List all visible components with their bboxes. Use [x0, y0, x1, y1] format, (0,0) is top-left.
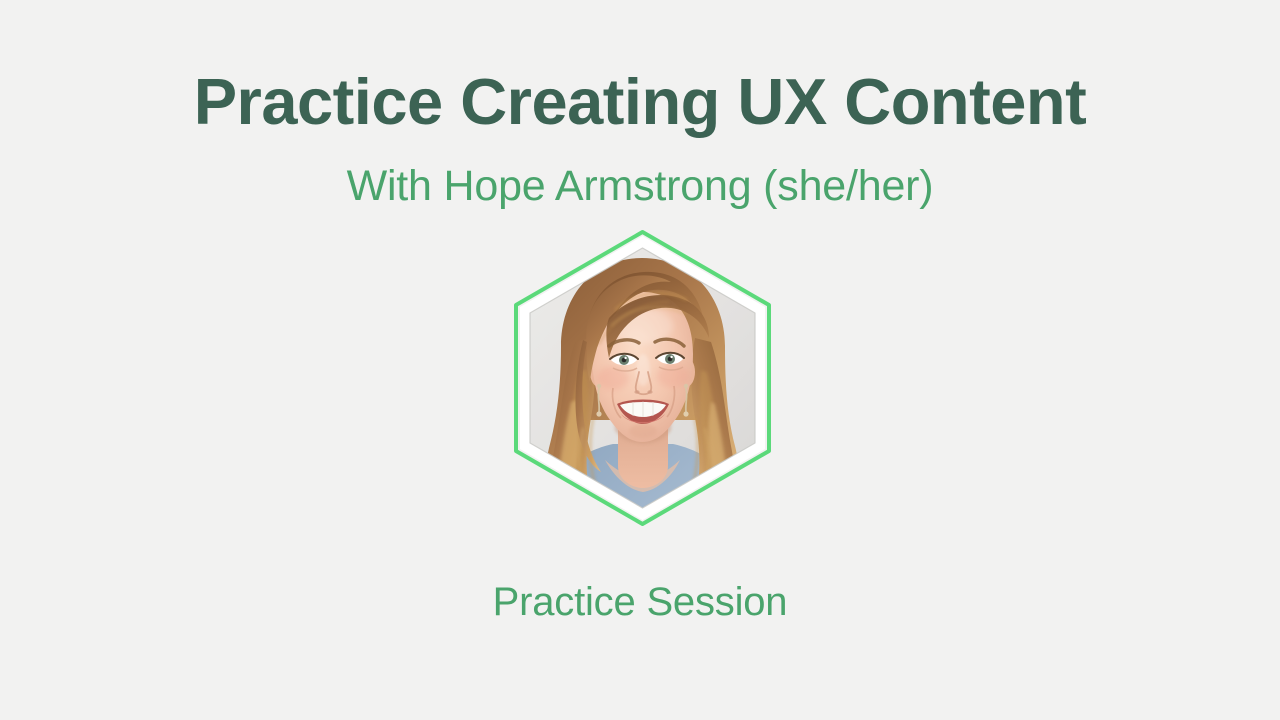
- page-title: Practice Creating UX Content: [0, 68, 1280, 136]
- slide-root: Practice Creating UX Content With Hope A…: [0, 0, 1280, 720]
- avatar: [487, 222, 798, 566]
- presenter-subtitle: With Hope Armstrong (she/her): [0, 163, 1280, 210]
- avatar-hexagon-graphic: [487, 222, 798, 566]
- session-caption: Practice Session: [0, 580, 1280, 624]
- headshot-photo: [492, 222, 792, 542]
